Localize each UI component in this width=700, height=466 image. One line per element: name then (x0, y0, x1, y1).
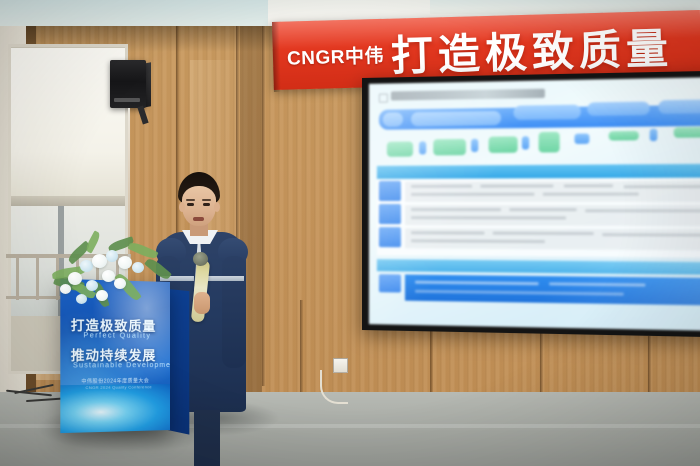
slide-text-line (509, 208, 576, 211)
loudspeaker-brand-plate (114, 98, 140, 102)
slide-row-label (379, 181, 401, 201)
slide-green-chip (433, 139, 466, 156)
podium-subheadline-en: Sustainable Development (73, 362, 170, 370)
slide-text-line (411, 193, 534, 196)
slide-header-chip (587, 101, 649, 115)
podium-base-glow (60, 384, 170, 433)
slide-row-label (379, 227, 401, 247)
projection-screen-frame (362, 71, 700, 337)
slide-text-line (624, 185, 700, 188)
slide-header-chip (658, 99, 700, 114)
presenter-mouth (193, 217, 204, 221)
slide-green-chip (387, 141, 413, 156)
slide-green-chip (609, 131, 639, 141)
podium-event-en: CNGR 2024 Quality Conference (85, 384, 151, 390)
wood-seam (262, 26, 265, 386)
slide-text-line (564, 184, 613, 187)
floral-arrangement (52, 238, 176, 310)
slide-bullet-icon (379, 94, 388, 103)
slide-text-line (602, 233, 700, 237)
slide-blue-chip (471, 139, 478, 152)
slide-green-chip (539, 132, 560, 153)
slide-header-chip (411, 111, 501, 126)
slide-text-line (493, 232, 594, 236)
podium-headline-en: Perfect Quality (83, 332, 151, 340)
slide-text-line (411, 231, 484, 234)
slide-green-chip (674, 127, 700, 138)
banner-logo-latin: CNGR (287, 47, 346, 70)
slide-blue-chip (522, 136, 529, 149)
slide-text-line (585, 209, 700, 212)
slide-blue-chip (650, 129, 658, 142)
slide-blue-chip (575, 134, 590, 145)
slide-text-line (411, 208, 501, 211)
slide-text-line (411, 216, 566, 219)
window-blind (11, 48, 125, 196)
slide-blue-chip (419, 141, 426, 154)
slide-section-bar (377, 164, 700, 179)
slide-text-line (480, 184, 553, 187)
conference-photo: CNGR中伟 打造极致质量 架 (0, 0, 700, 466)
ceiling-glass-panel (0, 0, 268, 26)
slide-text-line (411, 185, 472, 188)
projected-slide (369, 77, 700, 331)
slide-bottom-bar (377, 259, 700, 275)
slide-header-chip (383, 112, 403, 126)
wood-seam (300, 300, 303, 400)
presenter-eye-right (203, 203, 210, 206)
presenter-ear-right (214, 202, 220, 212)
slide-header-chip (514, 105, 581, 120)
jacket-reflective-stripe-right (208, 276, 244, 281)
slide-row-label (379, 204, 401, 224)
slide-text-line (543, 193, 639, 196)
presenter-brow-left (186, 199, 195, 201)
presenter-arm-right (222, 256, 246, 368)
banner-logo-cn: 中伟 (345, 46, 385, 68)
cngr-logo: CNGR中伟 (287, 41, 385, 71)
presenter-eye-left (187, 203, 194, 206)
presenter-ear-left (179, 202, 185, 212)
window-blind-bottom-rail (11, 196, 125, 206)
presenter-brow-right (202, 199, 211, 201)
slide-footer-label (379, 274, 401, 292)
banner-title-text: 打造极致质量 (390, 25, 673, 80)
presenter-hand (194, 292, 210, 314)
slide-title-bar (391, 89, 545, 101)
slide-green-chip (489, 136, 518, 153)
presenter-legs (194, 410, 220, 466)
